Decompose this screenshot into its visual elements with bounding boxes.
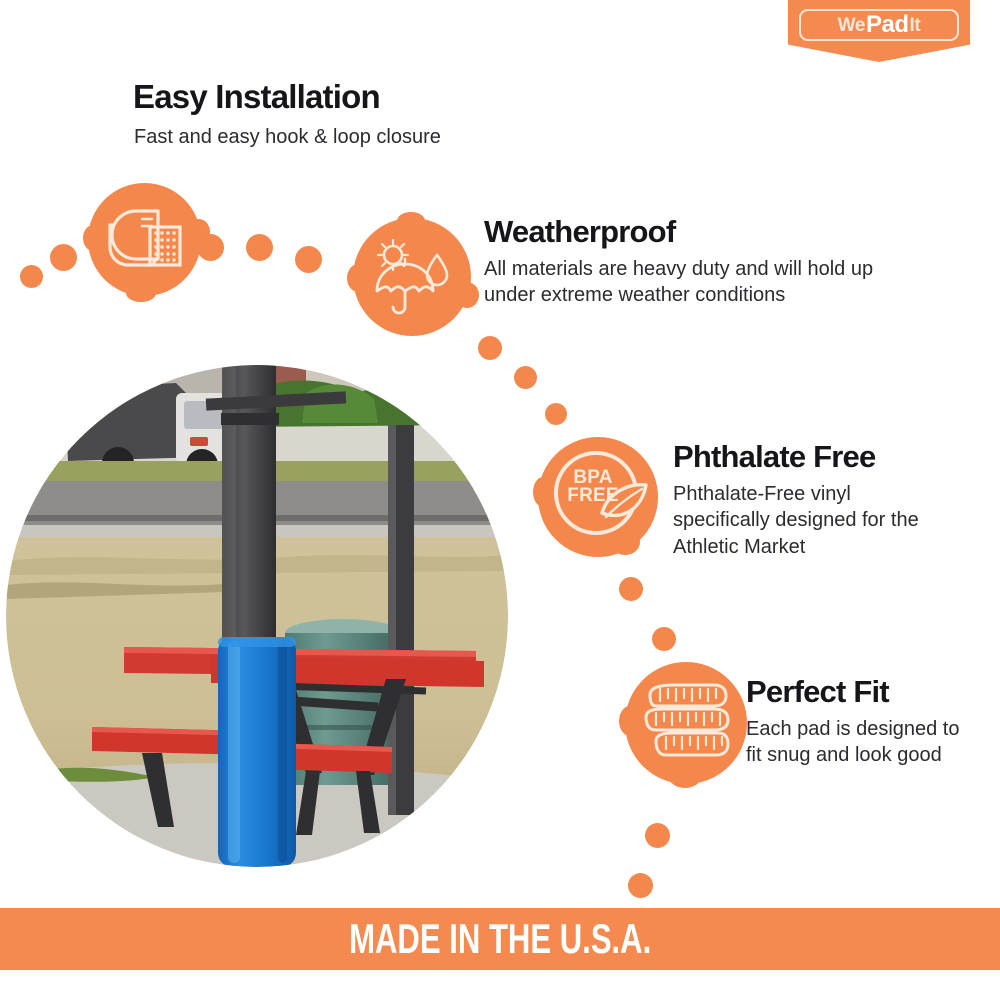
feature-title-perfect-fit: Perfect Fit (746, 674, 889, 710)
feature-title-phthalate-free: Phthalate Free (673, 439, 875, 475)
badge-nub (619, 706, 641, 736)
badge-nub (669, 766, 701, 788)
feature-description-perfect-fit: Each pad is designed to fit snug and loo… (746, 716, 974, 769)
trail-dot (50, 244, 77, 271)
badge-nub (347, 264, 369, 292)
trail-dot (619, 577, 643, 601)
feature-title-weatherproof: Weatherproof (484, 214, 675, 250)
trail-dot (478, 336, 502, 360)
badge-nub (397, 212, 425, 230)
trail-dot (246, 234, 273, 261)
trail-dot (545, 403, 567, 425)
brand-logo: We Pad It (788, 0, 970, 62)
sun-umbrella-raindrop-icon (353, 218, 471, 336)
infographic-canvas: We Pad It Easy Installation Fast and eas… (0, 0, 1000, 987)
trail-dot (514, 366, 537, 389)
trail-dot (645, 823, 670, 848)
feature-description-easy-installation: Fast and easy hook & loop closure (134, 124, 441, 150)
feature-description-phthalate-free: Phthalate-Free vinyl specifically design… (673, 481, 935, 560)
trail-dot (197, 234, 224, 261)
feature-title-easy-installation: Easy Installation (133, 78, 380, 116)
bpa-free-leaf-icon: BPA FREE (538, 437, 658, 557)
logo-frame: We Pad It (799, 9, 959, 41)
feature-description-weatherproof: All materials are heavy duty and will ho… (484, 256, 904, 309)
trail-dot (628, 873, 653, 898)
product-photo (6, 365, 508, 867)
trail-dot (295, 246, 322, 273)
measuring-tape-icon (625, 662, 747, 784)
made-in-usa-text: MADE IN THE U.S.A. (349, 915, 651, 963)
logo-text-we: We (838, 16, 865, 35)
hook-and-loop-icon (88, 183, 201, 296)
badge-nub (455, 282, 479, 308)
logo-text-pad: Pad (866, 13, 909, 37)
trail-dot (652, 627, 676, 651)
made-in-usa-banner: MADE IN THE U.S.A. (0, 908, 1000, 970)
logo-text-it: It (910, 16, 921, 35)
badge-nub (126, 284, 156, 302)
badge-nub (83, 225, 103, 251)
trail-dot (20, 265, 43, 288)
